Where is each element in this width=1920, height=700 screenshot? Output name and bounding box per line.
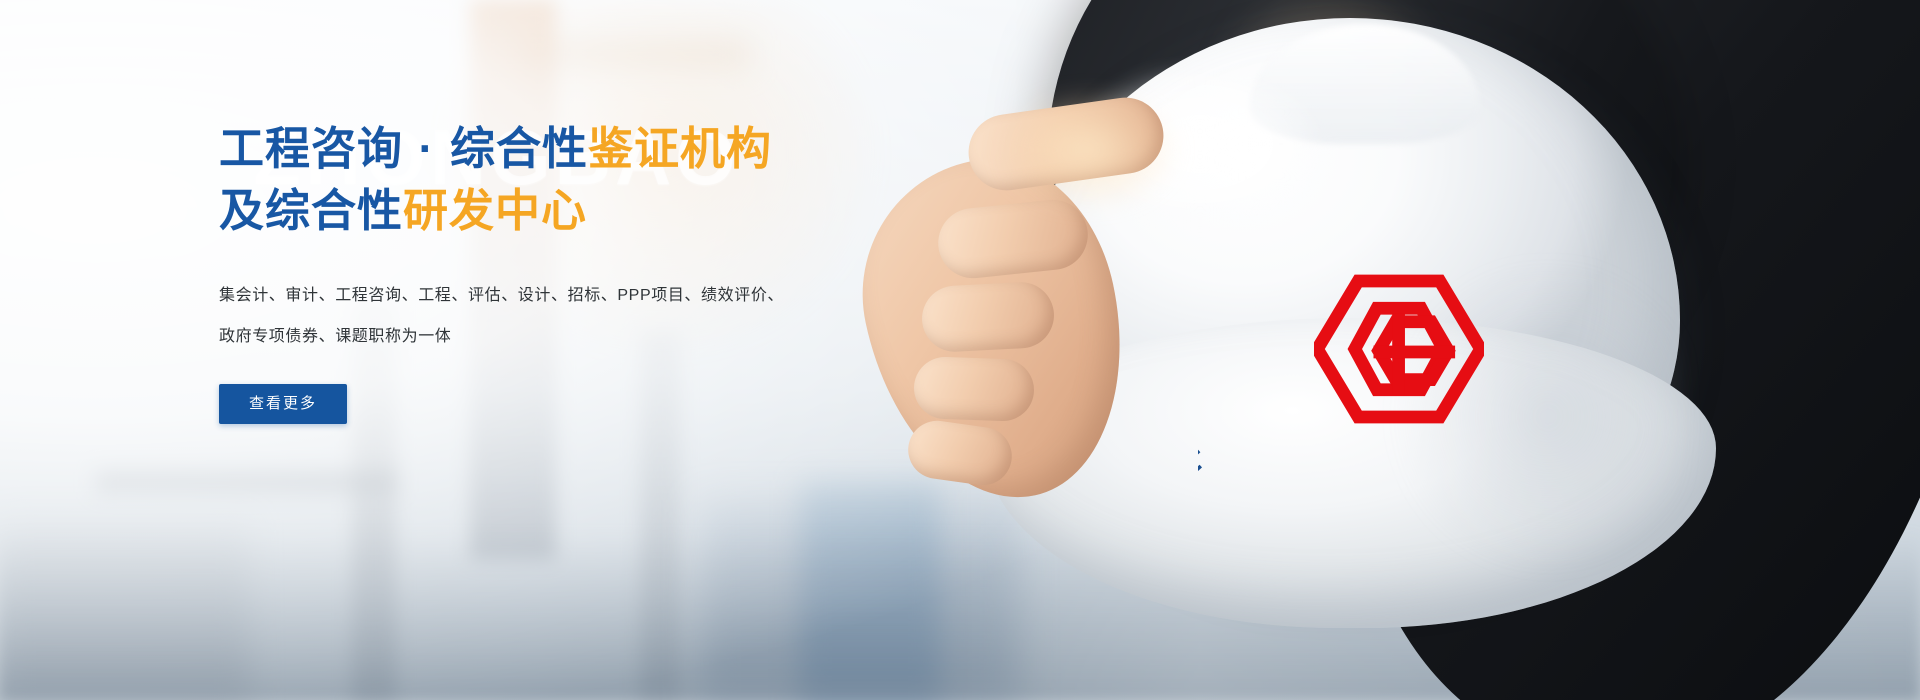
- helmet-brand-logo: 中宝工程管理: [1198, 166, 1558, 526]
- hexagon-emblem-icon: [1314, 274, 1484, 424]
- headline-line-1: 工程咨询 · 综合性鉴证机构: [219, 118, 919, 180]
- description-line-2: 政府专项债券、课题职称为一体: [219, 317, 919, 358]
- headline: 工程咨询 · 综合性鉴证机构 及综合性研发中心: [219, 118, 919, 242]
- headline-seg-1: 工程咨询: [219, 123, 403, 174]
- hero-copy: ZHONGBAO 工程咨询 · 综合性鉴证机构 及综合性研发中心 集会计、审计、…: [219, 118, 919, 424]
- hero-description: 集会计、审计、工程咨询、工程、评估、设计、招标、PPP项目、绩效评价、 政府专项…: [219, 276, 919, 358]
- description-line-1: 集会计、审计、工程咨询、工程、评估、设计、招标、PPP项目、绩效评价、: [219, 276, 919, 317]
- ring-finger: [913, 356, 1035, 422]
- headline-seg-2: 综合性: [450, 123, 588, 174]
- headline-seg-3: 鉴证机构: [588, 123, 772, 174]
- view-more-button[interactable]: 查看更多: [219, 384, 347, 424]
- photo-hand-holding-helmet: 中宝工程管理: [820, 0, 1920, 700]
- headline-line-2: 及综合性研发中心: [219, 180, 919, 242]
- hero-banner: 中宝工程管理: [0, 0, 1920, 700]
- svg-text:中宝工程管理: 中宝工程管理: [1198, 227, 1214, 486]
- hand-highlight: [1000, 90, 1220, 210]
- headline-separator: ·: [403, 123, 450, 174]
- headline-seg-5: 研发中心: [403, 185, 587, 236]
- logo-arc-label: 中宝工程管理: [1198, 227, 1214, 486]
- middle-finger: [920, 281, 1055, 354]
- headline-seg-4: 及综合性: [219, 185, 403, 236]
